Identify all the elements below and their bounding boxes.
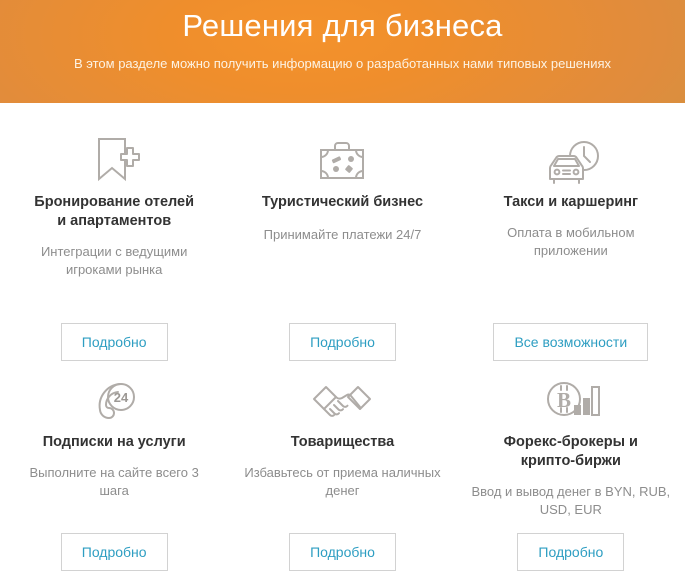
card-title: Товарищества (291, 433, 394, 452)
handshake-icon (310, 365, 374, 427)
svg-text:B: B (557, 388, 571, 412)
car-clock-icon (540, 125, 602, 187)
card-description: Ввод и вывод денег в BYN, RUB, USD, EUR (471, 483, 671, 519)
card-title: Туристический бизнес (262, 193, 423, 212)
details-button[interactable]: Подробно (517, 533, 624, 571)
details-button[interactable]: Подробно (289, 533, 396, 571)
svg-text:24: 24 (114, 390, 129, 405)
details-button[interactable]: Подробно (61, 323, 168, 361)
card-title-line1: Форекс-брокеры и (504, 434, 638, 450)
solution-card-hotel-booking[interactable]: Бронирование отелей и апартаментов Интег… (0, 125, 228, 365)
card-title-line1: Бронирование отелей (34, 194, 194, 210)
bitcoin-chart-icon: B (540, 365, 602, 427)
page-subtitle: В этом разделе можно получить информацию… (0, 55, 685, 73)
card-description: Оплата в мобильном приложении (471, 224, 671, 260)
card-title-line2: и апартаментов (57, 213, 171, 229)
solution-card-partnerships[interactable]: Товарищества Избавьтесь от приема наличн… (228, 365, 456, 575)
card-title-line1: Туристический бизнес (262, 194, 423, 210)
solution-card-tourism[interactable]: Туристический бизнес Принимайте платежи … (228, 125, 456, 365)
solutions-row-2: 24 Подписки на услуги Выполните на сайте… (0, 365, 685, 575)
card-description: Выполните на сайте всего 3 шага (14, 464, 214, 500)
solutions-row-1: Бронирование отелей и апартаментов Интег… (0, 125, 685, 365)
card-title: Бронирование отелей и апартаментов (34, 193, 194, 231)
card-description: Принимайте платежи 24/7 (264, 226, 422, 244)
card-description: Интеграции с ведущими игроками рынка (14, 243, 214, 279)
solution-card-forex-crypto[interactable]: B Форекс-брокеры и крипто-биржи Ввод и в… (457, 365, 685, 575)
business-solutions-page: Решения для бизнеса В этом разделе можно… (0, 0, 685, 578)
card-button-wrap: Все возможности (493, 323, 648, 365)
card-title-line1: Такси и каршеринг (504, 194, 638, 210)
card-button-wrap: Подробно (517, 533, 624, 575)
phone-24-icon: 24 (86, 365, 142, 427)
details-button[interactable]: Подробно (289, 323, 396, 361)
hero-banner: Решения для бизнеса В этом разделе можно… (0, 0, 685, 103)
card-title: Подписки на услуги (43, 433, 186, 452)
card-title-line2: крипто-биржи (521, 453, 621, 469)
card-button-wrap: Подробно (289, 533, 396, 575)
card-button-wrap: Подробно (61, 533, 168, 575)
card-title-line1: Подписки на услуги (43, 434, 186, 450)
card-title-line1: Товарищества (291, 434, 394, 450)
suitcase-icon (313, 125, 371, 187)
card-button-wrap: Подробно (289, 323, 396, 365)
card-description: Избавьтесь от приема наличных денег (242, 464, 442, 500)
solution-card-taxi-carsharing[interactable]: Такси и каршеринг Оплата в мобильном при… (457, 125, 685, 365)
card-title: Такси и каршеринг (504, 193, 638, 212)
solution-card-subscriptions[interactable]: 24 Подписки на услуги Выполните на сайте… (0, 365, 228, 575)
card-title: Форекс-брокеры и крипто-биржи (504, 433, 638, 471)
page-title: Решения для бизнеса (0, 5, 685, 47)
all-features-button[interactable]: Все возможности (493, 323, 648, 361)
solutions-grid: Бронирование отелей и апартаментов Интег… (0, 103, 685, 575)
details-button[interactable]: Подробно (61, 533, 168, 571)
bookmark-plus-icon (87, 125, 141, 187)
card-button-wrap: Подробно (61, 323, 168, 365)
